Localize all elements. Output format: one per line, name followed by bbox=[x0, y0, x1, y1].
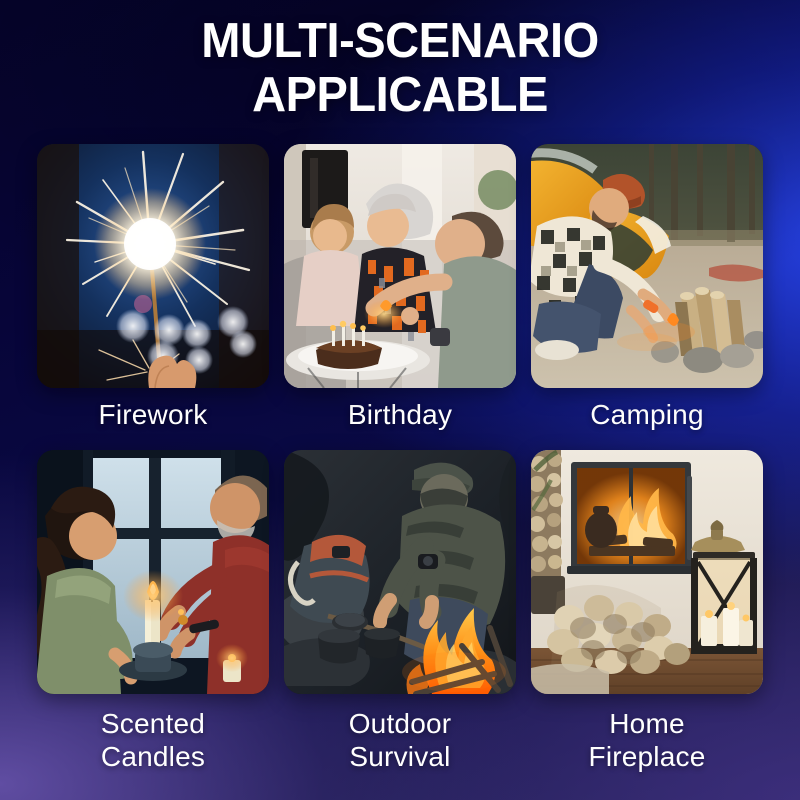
caption-line-2: Fireplace bbox=[531, 740, 763, 773]
scenario-card-scented-candles[interactable]: Scented Candles bbox=[37, 450, 269, 773]
scenario-card-firework[interactable]: Firework bbox=[37, 144, 269, 431]
page-title: MULTI-SCENARIO APPLICABLE bbox=[16, 14, 784, 122]
scenario-card-camping[interactable]: Camping bbox=[531, 144, 763, 431]
page-title-line1: MULTI-SCENARIO bbox=[201, 14, 598, 68]
scenario-caption-outdoor-survival: Outdoor Survival bbox=[284, 694, 516, 773]
caption-line-1: Home bbox=[531, 707, 763, 740]
caption-line-2: Survival bbox=[284, 740, 516, 773]
scenario-caption-birthday: Birthday bbox=[284, 388, 516, 431]
scenario-row-1: Firework bbox=[37, 144, 765, 431]
caption-line-2: Candles bbox=[37, 740, 269, 773]
caption-line-1: Outdoor bbox=[284, 707, 516, 740]
scenario-grid: Firework bbox=[37, 144, 765, 773]
outdoor-survival-photo bbox=[284, 450, 516, 694]
scenario-card-outdoor-survival[interactable]: Outdoor Survival bbox=[284, 450, 516, 773]
scenario-row-2: Scented Candles bbox=[37, 450, 765, 773]
scenario-caption-home-fireplace: Home Fireplace bbox=[531, 694, 763, 773]
home-fireplace-photo bbox=[531, 450, 763, 694]
poster-root: MULTI-SCENARIO APPLICABLE bbox=[0, 0, 800, 800]
caption-line-1: Scented bbox=[37, 707, 269, 740]
firework-photo bbox=[37, 144, 269, 388]
page-title-line2: APPLICABLE bbox=[16, 68, 784, 122]
scenario-caption-camping: Camping bbox=[531, 388, 763, 431]
scenario-card-birthday[interactable]: Birthday bbox=[284, 144, 516, 431]
birthday-photo bbox=[284, 144, 516, 388]
scenario-caption-firework: Firework bbox=[37, 388, 269, 431]
scenario-card-home-fireplace[interactable]: Home Fireplace bbox=[531, 450, 763, 773]
camping-photo bbox=[531, 144, 763, 388]
scenario-caption-scented-candles: Scented Candles bbox=[37, 694, 269, 773]
scented-candles-photo bbox=[37, 450, 269, 694]
